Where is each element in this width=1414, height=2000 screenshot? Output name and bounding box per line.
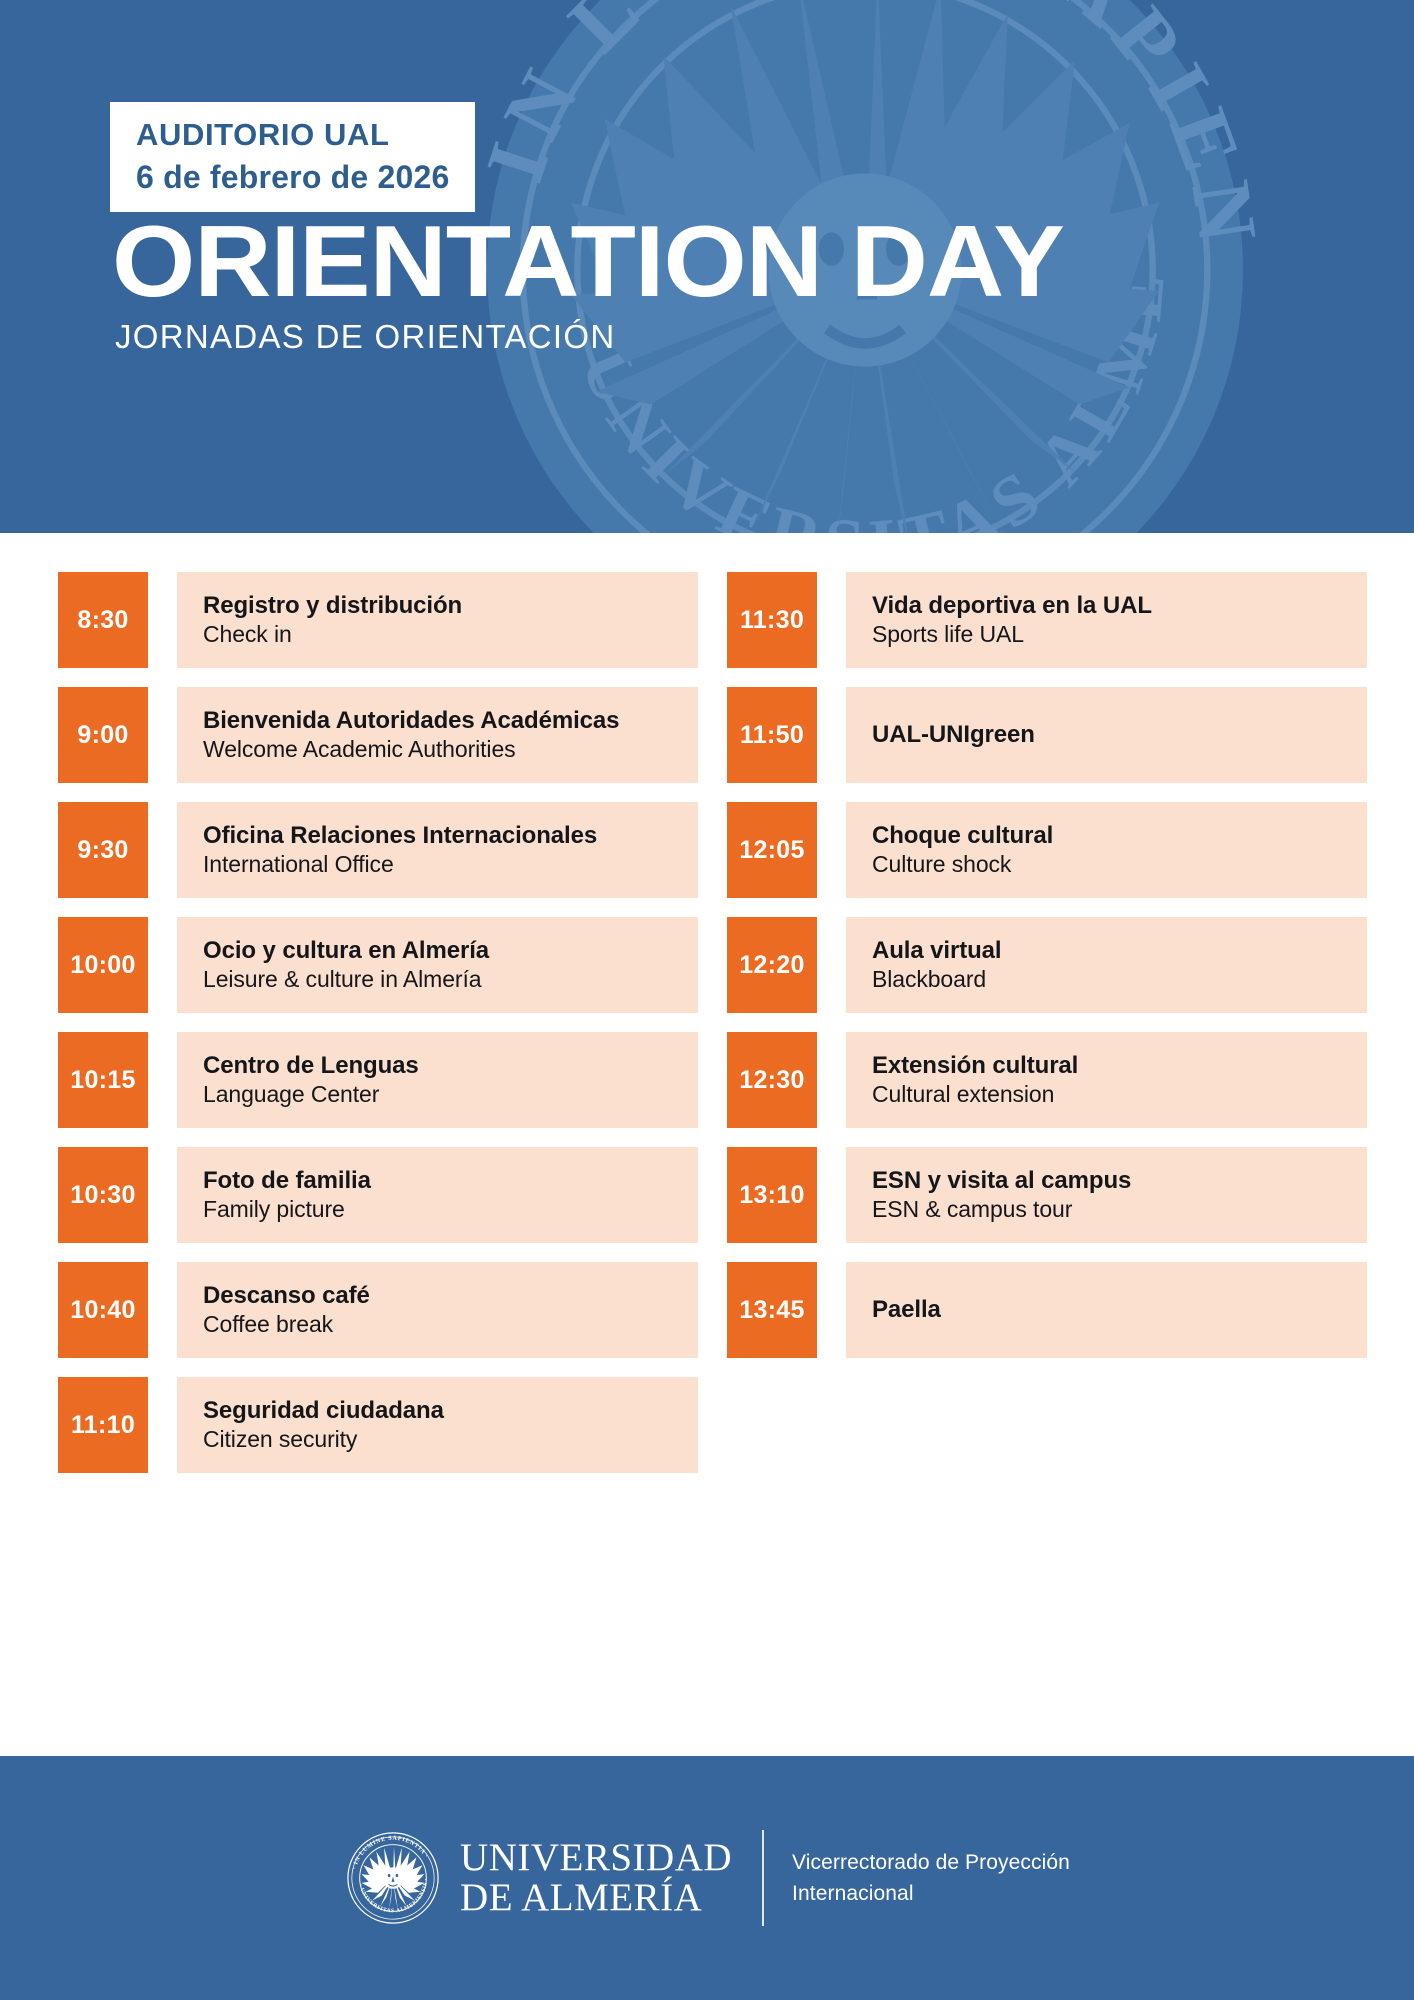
schedule-time-chip: 13:45 — [727, 1262, 817, 1358]
schedule-row-title: Descanso café — [203, 1281, 672, 1310]
office-name-line1: Vicerrectorado de Proyección — [792, 1847, 1070, 1879]
venue-text: AUDITORIO UAL — [110, 102, 416, 150]
poster-header: IN LUMINE SAPIENTIA UNIVERSITAS ALMERIEN… — [0, 0, 1414, 533]
schedule-time-chip: 9:30 — [58, 802, 148, 898]
schedule-time-chip: 12:30 — [727, 1032, 817, 1128]
schedule-row-subtitle: Sports life UAL — [872, 620, 1341, 649]
schedule-row-subtitle: Cultural extension — [872, 1080, 1341, 1109]
schedule-time-chip: 9:00 — [58, 687, 148, 783]
schedule-row-body: Ocio y cultura en AlmeríaLeisure & cultu… — [177, 917, 698, 1013]
schedule-row: 11:50UAL-UNIgreen — [727, 687, 1367, 783]
schedule-row-title: Choque cultural — [872, 821, 1341, 850]
schedule-row-subtitle: Citizen security — [203, 1425, 672, 1454]
university-name: UNIVERSIDAD DE ALMERÍA — [460, 1838, 732, 1918]
schedule-row-body: Choque culturalCulture shock — [846, 802, 1367, 898]
schedule-row-title: Registro y distribución — [203, 591, 672, 620]
schedule-row-body: Centro de LenguasLanguage Center — [177, 1032, 698, 1128]
schedule-row-body: Extensión culturalCultural extension — [846, 1032, 1367, 1128]
schedule-row: 10:40Descanso caféCoffee break — [58, 1262, 698, 1358]
schedule-time-chip: 11:50 — [727, 687, 817, 783]
schedule-row-body: ESN y visita al campusESN & campus tour — [846, 1147, 1367, 1243]
schedule-row: 13:10ESN y visita al campusESN & campus … — [727, 1147, 1367, 1243]
schedule-row: 11:10Seguridad ciudadanaCitizen security — [58, 1377, 698, 1473]
schedule-row-title: Ocio y cultura en Almería — [203, 936, 672, 965]
schedule-row: 10:15Centro de LenguasLanguage Center — [58, 1032, 698, 1128]
schedule-row-title: Bienvenida Autoridades Académicas — [203, 706, 672, 735]
office-name-line2: Internacional — [792, 1878, 1070, 1910]
schedule-row-title: Aula virtual — [872, 936, 1341, 965]
schedule-row-subtitle: International Office — [203, 850, 672, 879]
schedule-row-body: Descanso caféCoffee break — [177, 1262, 698, 1358]
schedule-time-chip: 8:30 — [58, 572, 148, 668]
venue-date-label: AUDITORIO UAL 6 de febrero de 2026 — [110, 102, 475, 212]
page-subtitle: JORNADAS DE ORIENTACIÓN — [115, 320, 616, 353]
schedule-row-body: UAL-UNIgreen — [846, 687, 1367, 783]
schedule-row-title: Seguridad ciudadana — [203, 1396, 672, 1425]
schedule-time-chip: 10:30 — [58, 1147, 148, 1243]
schedule-row: 9:30Oficina Relaciones InternacionalesIn… — [58, 802, 698, 898]
university-name-line1: UNIVERSIDAD — [460, 1838, 732, 1878]
schedule-row-body: Paella — [846, 1262, 1367, 1358]
schedule-row: 12:30Extensión culturalCultural extensio… — [727, 1032, 1367, 1128]
date-text: 6 de febrero de 2026 — [110, 149, 475, 212]
schedule-row: 11:30Vida deportiva en la UALSports life… — [727, 572, 1367, 668]
schedule-row-body: Foto de familiaFamily picture — [177, 1147, 698, 1243]
schedule-row-title: Paella — [872, 1295, 1341, 1324]
schedule-row-body: Bienvenida Autoridades AcadémicasWelcome… — [177, 687, 698, 783]
schedule-row-subtitle: ESN & campus tour — [872, 1195, 1341, 1224]
schedule-row-body: Oficina Relaciones InternacionalesIntern… — [177, 802, 698, 898]
poster-footer: · IN LUMINE SAPIENTIA · · UNIVERSITAS AL… — [0, 1756, 1414, 2000]
office-name: Vicerrectorado de Proyección Internacion… — [792, 1847, 1070, 1910]
schedule-row-subtitle: Coffee break — [203, 1310, 672, 1339]
schedule-time-chip: 12:20 — [727, 917, 817, 1013]
schedule-row: 13:45Paella — [727, 1262, 1367, 1358]
schedule-row-subtitle: Check in — [203, 620, 672, 649]
schedule-row-title: Oficina Relaciones Internacionales — [203, 821, 672, 850]
schedule-row: 8:30Registro y distribuciónCheck in — [58, 572, 698, 668]
schedule-row-body: Vida deportiva en la UALSports life UAL — [846, 572, 1367, 668]
schedule-row-subtitle: Blackboard — [872, 965, 1341, 994]
schedule-row-title: Foto de familia — [203, 1166, 672, 1195]
page-title: ORIENTATION DAY — [112, 212, 1064, 313]
schedule-row: 12:05Choque culturalCulture shock — [727, 802, 1367, 898]
schedule-time-chip: 10:40 — [58, 1262, 148, 1358]
schedule-time-chip: 13:10 — [727, 1147, 817, 1243]
schedule-time-chip: 10:00 — [58, 917, 148, 1013]
footer-divider — [762, 1830, 764, 1926]
university-name-line2: DE ALMERÍA — [460, 1878, 732, 1918]
schedule-row-title: ESN y visita al campus — [872, 1166, 1341, 1195]
schedule-row-title: Centro de Lenguas — [203, 1051, 672, 1080]
schedule-row-body: Registro y distribuciónCheck in — [177, 572, 698, 668]
schedule-time-chip: 10:15 — [58, 1032, 148, 1128]
schedule-time-chip: 12:05 — [727, 802, 817, 898]
schedule-row-subtitle: Language Center — [203, 1080, 672, 1109]
schedule-row-subtitle: Family picture — [203, 1195, 672, 1224]
schedule-section: 8:30Registro y distribuciónCheck in9:00B… — [0, 533, 1414, 1756]
schedule-row-subtitle: Welcome Academic Authorities — [203, 735, 672, 764]
schedule-row-title: UAL-UNIgreen — [872, 720, 1341, 749]
schedule-row-body: Seguridad ciudadanaCitizen security — [177, 1377, 698, 1473]
schedule-row-subtitle: Culture shock — [872, 850, 1341, 879]
schedule-row-subtitle: Leisure & culture in Almería — [203, 965, 672, 994]
schedule-row-title: Vida deportiva en la UAL — [872, 591, 1341, 620]
ual-seal-icon: · IN LUMINE SAPIENTIA · · UNIVERSITAS AL… — [344, 1829, 442, 1927]
schedule-row: 9:00Bienvenida Autoridades AcadémicasWel… — [58, 687, 698, 783]
schedule-row-title: Extensión cultural — [872, 1051, 1341, 1080]
schedule-row-body: Aula virtualBlackboard — [846, 917, 1367, 1013]
schedule-row: 10:00Ocio y cultura en AlmeríaLeisure & … — [58, 917, 698, 1013]
schedule-row: 10:30Foto de familiaFamily picture — [58, 1147, 698, 1243]
schedule-time-chip: 11:10 — [58, 1377, 148, 1473]
schedule-time-chip: 11:30 — [727, 572, 817, 668]
schedule-row: 12:20Aula virtualBlackboard — [727, 917, 1367, 1013]
